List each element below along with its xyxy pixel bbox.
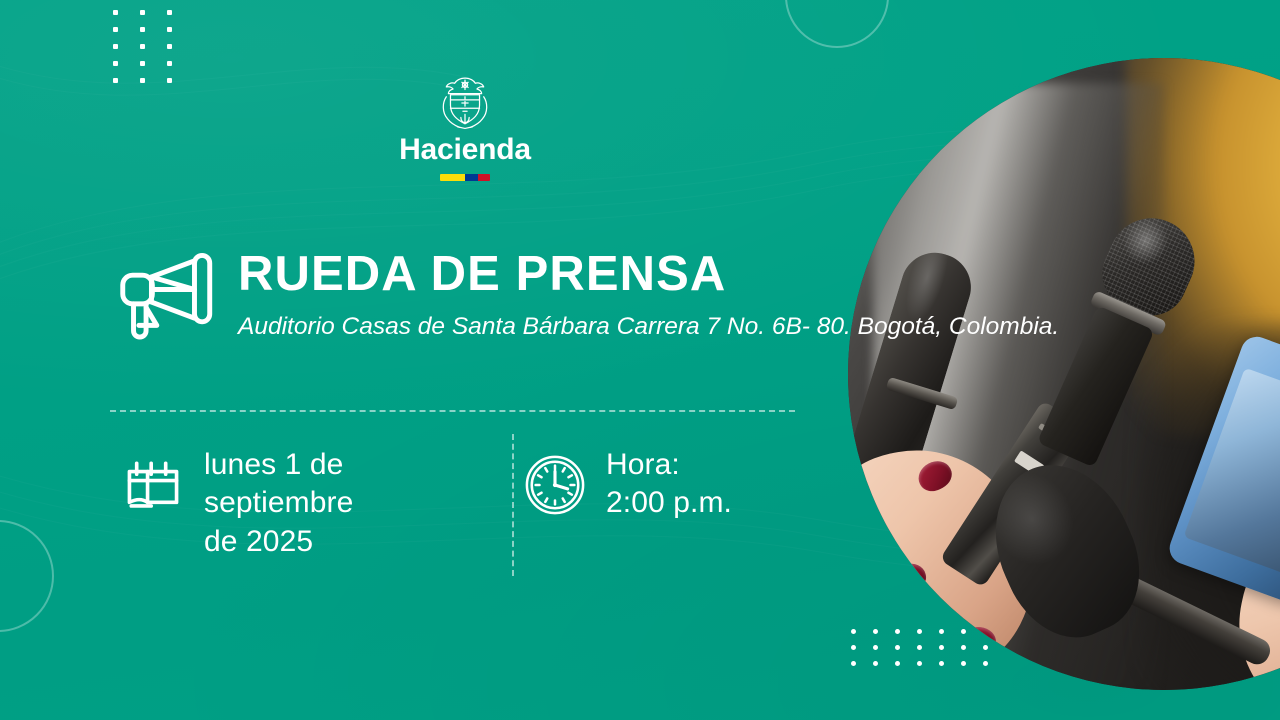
time-label: Hora: bbox=[606, 446, 732, 484]
ministry-logo: Hacienda bbox=[0, 76, 930, 181]
flag-stripe-red bbox=[478, 174, 491, 181]
brand-name: Hacienda bbox=[399, 135, 531, 165]
flag-stripe-yellow bbox=[440, 174, 465, 181]
vertical-divider bbox=[512, 434, 514, 576]
flag-stripe-blue bbox=[465, 174, 478, 181]
title-section: RUEDA DE PRENSA Auditorio Casas de Santa… bbox=[112, 244, 1059, 344]
megaphone-icon bbox=[112, 248, 216, 340]
time-value: 2:00 p.m. bbox=[606, 484, 732, 522]
venue-line-1: Auditorio Casas de Santa Bárbara bbox=[238, 313, 610, 340]
date-line-2: septiembre bbox=[204, 484, 353, 522]
decorative-circle-top-right bbox=[785, 0, 889, 48]
calendar-icon bbox=[124, 458, 182, 514]
colombia-flag-bar bbox=[440, 174, 490, 181]
venue-line-2: Carrera 7 No. 6B- 80. Bogotá, Colombia. bbox=[617, 313, 1060, 340]
time-text: Hora: 2:00 p.m. bbox=[606, 446, 732, 523]
date-line-3: de 2025 bbox=[204, 523, 353, 561]
clock-icon bbox=[524, 454, 586, 516]
decorative-circle-left-bottom bbox=[0, 520, 54, 632]
decorative-dot-grid-top-left bbox=[113, 10, 172, 83]
horizontal-divider bbox=[110, 410, 795, 412]
colombia-coat-of-arms-icon bbox=[439, 76, 491, 130]
press-conference-banner: Hacienda RUEDA DE PRENSA Auditorio Casas… bbox=[0, 0, 1280, 720]
date-text: lunes 1 de septiembre de 2025 bbox=[204, 446, 353, 561]
venue-address: Auditorio Casas de Santa Bárbara Carrera… bbox=[238, 311, 1059, 344]
date-block: lunes 1 de septiembre de 2025 bbox=[124, 446, 353, 561]
page-title: RUEDA DE PRENSA bbox=[238, 250, 1059, 299]
date-line-1: lunes 1 de bbox=[204, 446, 353, 484]
title-text-group: RUEDA DE PRENSA Auditorio Casas de Santa… bbox=[238, 244, 1059, 344]
time-block: Hora: 2:00 p.m. bbox=[524, 446, 732, 523]
